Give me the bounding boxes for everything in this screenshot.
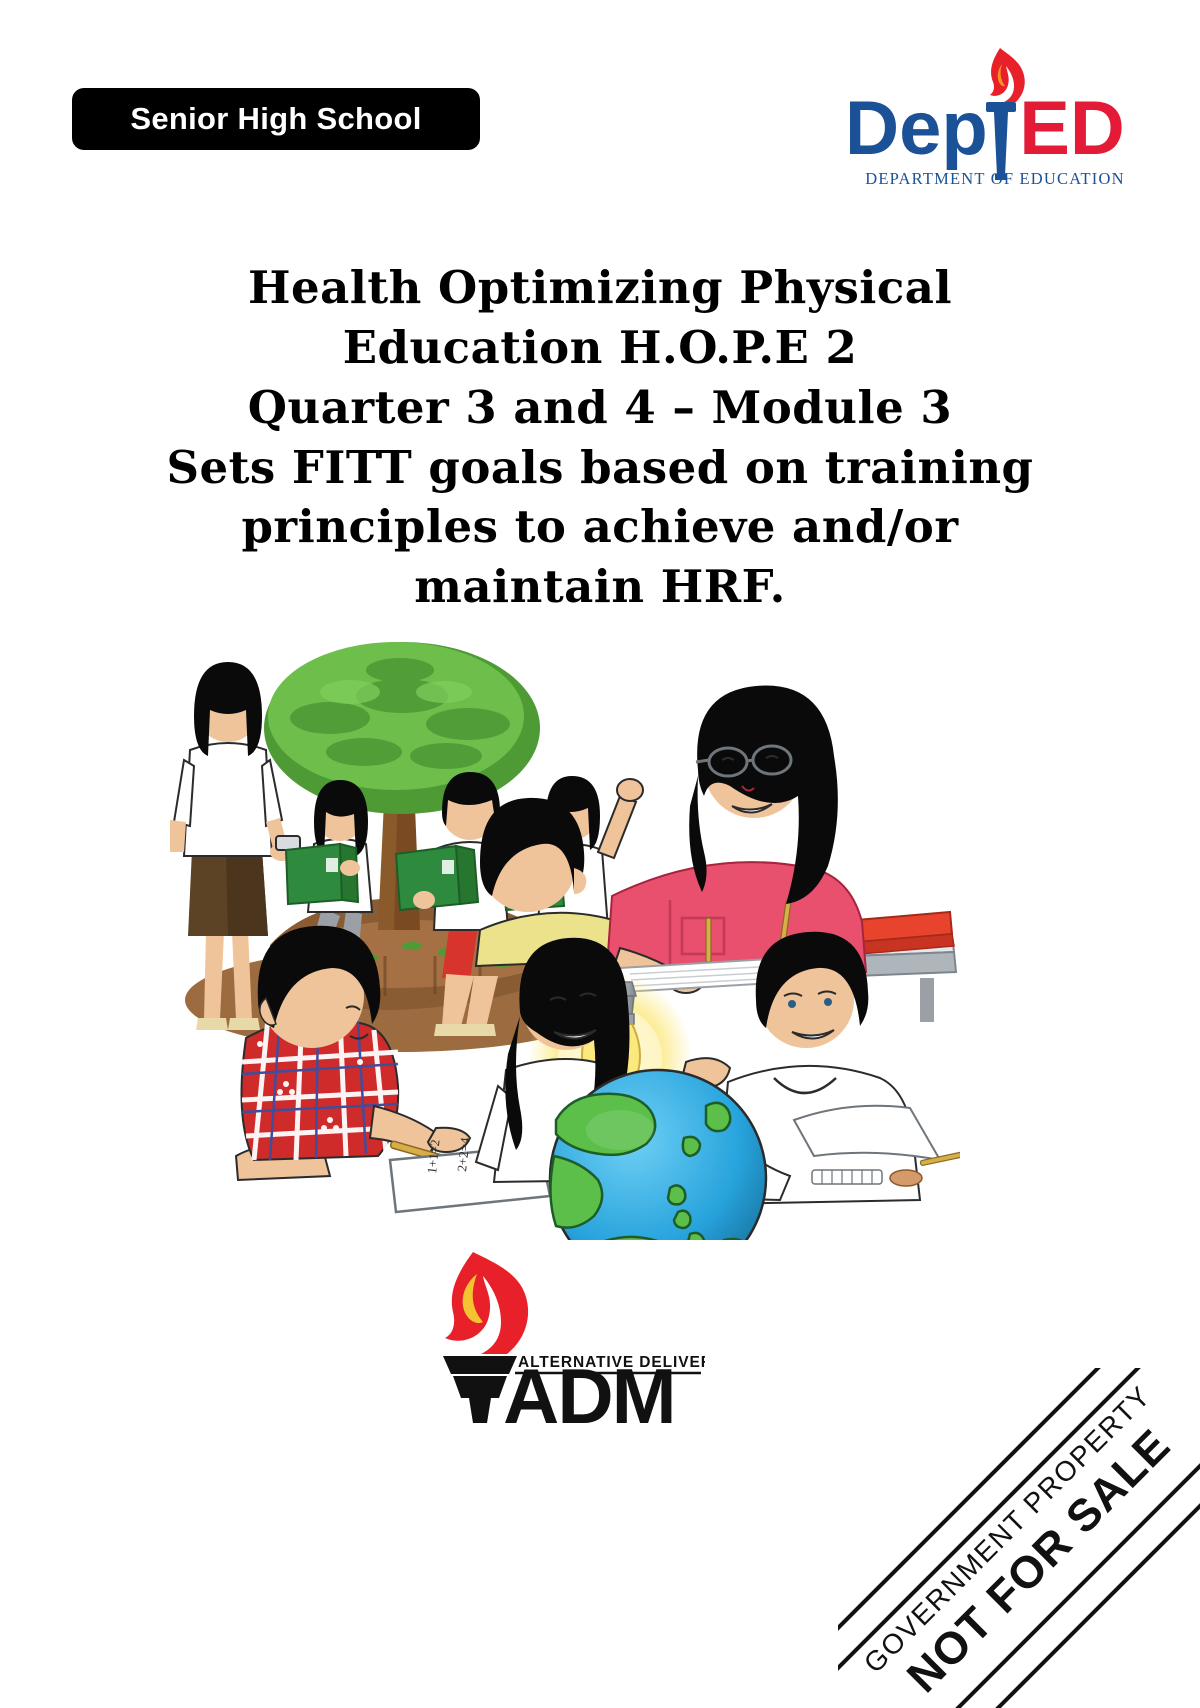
- stamp-rule-inner-top: [838, 1368, 1188, 1688]
- title-line-2: Education H.O.P.E 2: [110, 318, 1090, 378]
- open-paper-right: [794, 1106, 960, 1186]
- red-books-stack: [856, 912, 954, 954]
- stamp-rule-inner-bottom: [898, 1398, 1200, 1708]
- module-title: Health Optimizing Physical Education H.O…: [110, 258, 1090, 617]
- stamp-rule-outer-top: [838, 1368, 1168, 1668]
- deped-ed-wordmark: ED: [1019, 86, 1125, 171]
- adm-torch-flame-icon: [445, 1252, 528, 1354]
- deped-dep-wordmark: Dep: [850, 86, 988, 171]
- grade-band-badge: Senior High School: [72, 88, 480, 150]
- stamp-line-government-property: GOVERNMENT PROPERTY: [858, 1380, 1157, 1679]
- deped-logo: Dep ED DEPARTMENT OF EDUCATION: [850, 42, 1140, 192]
- learning-module-green: [396, 846, 478, 910]
- learners-collage-illustration: 1+1=2 2+2=4 4+4=8: [150, 600, 960, 1240]
- adm-acronym: ADM: [503, 1352, 675, 1423]
- stamp-line-not-for-sale: NOT FOR SALE: [897, 1419, 1180, 1702]
- title-line-5: principles to achieve and/or: [110, 497, 1090, 557]
- not-for-sale-stamp: GOVERNMENT PROPERTY NOT FOR SALE: [838, 1368, 1200, 1708]
- title-line-3: Quarter 3 and 4 – Module 3: [110, 378, 1090, 438]
- deped-tagline: DEPARTMENT OF EDUCATION: [865, 169, 1124, 188]
- adm-logo: ALTERNATIVE DELIVERY MODE ADM: [415, 1248, 705, 1423]
- title-line-4: Sets FITT goals based on training: [110, 438, 1090, 498]
- grade-band-label: Senior High School: [130, 101, 421, 137]
- title-line-1: Health Optimizing Physical: [110, 258, 1090, 318]
- stamp-rule-outer-bottom: [918, 1418, 1200, 1708]
